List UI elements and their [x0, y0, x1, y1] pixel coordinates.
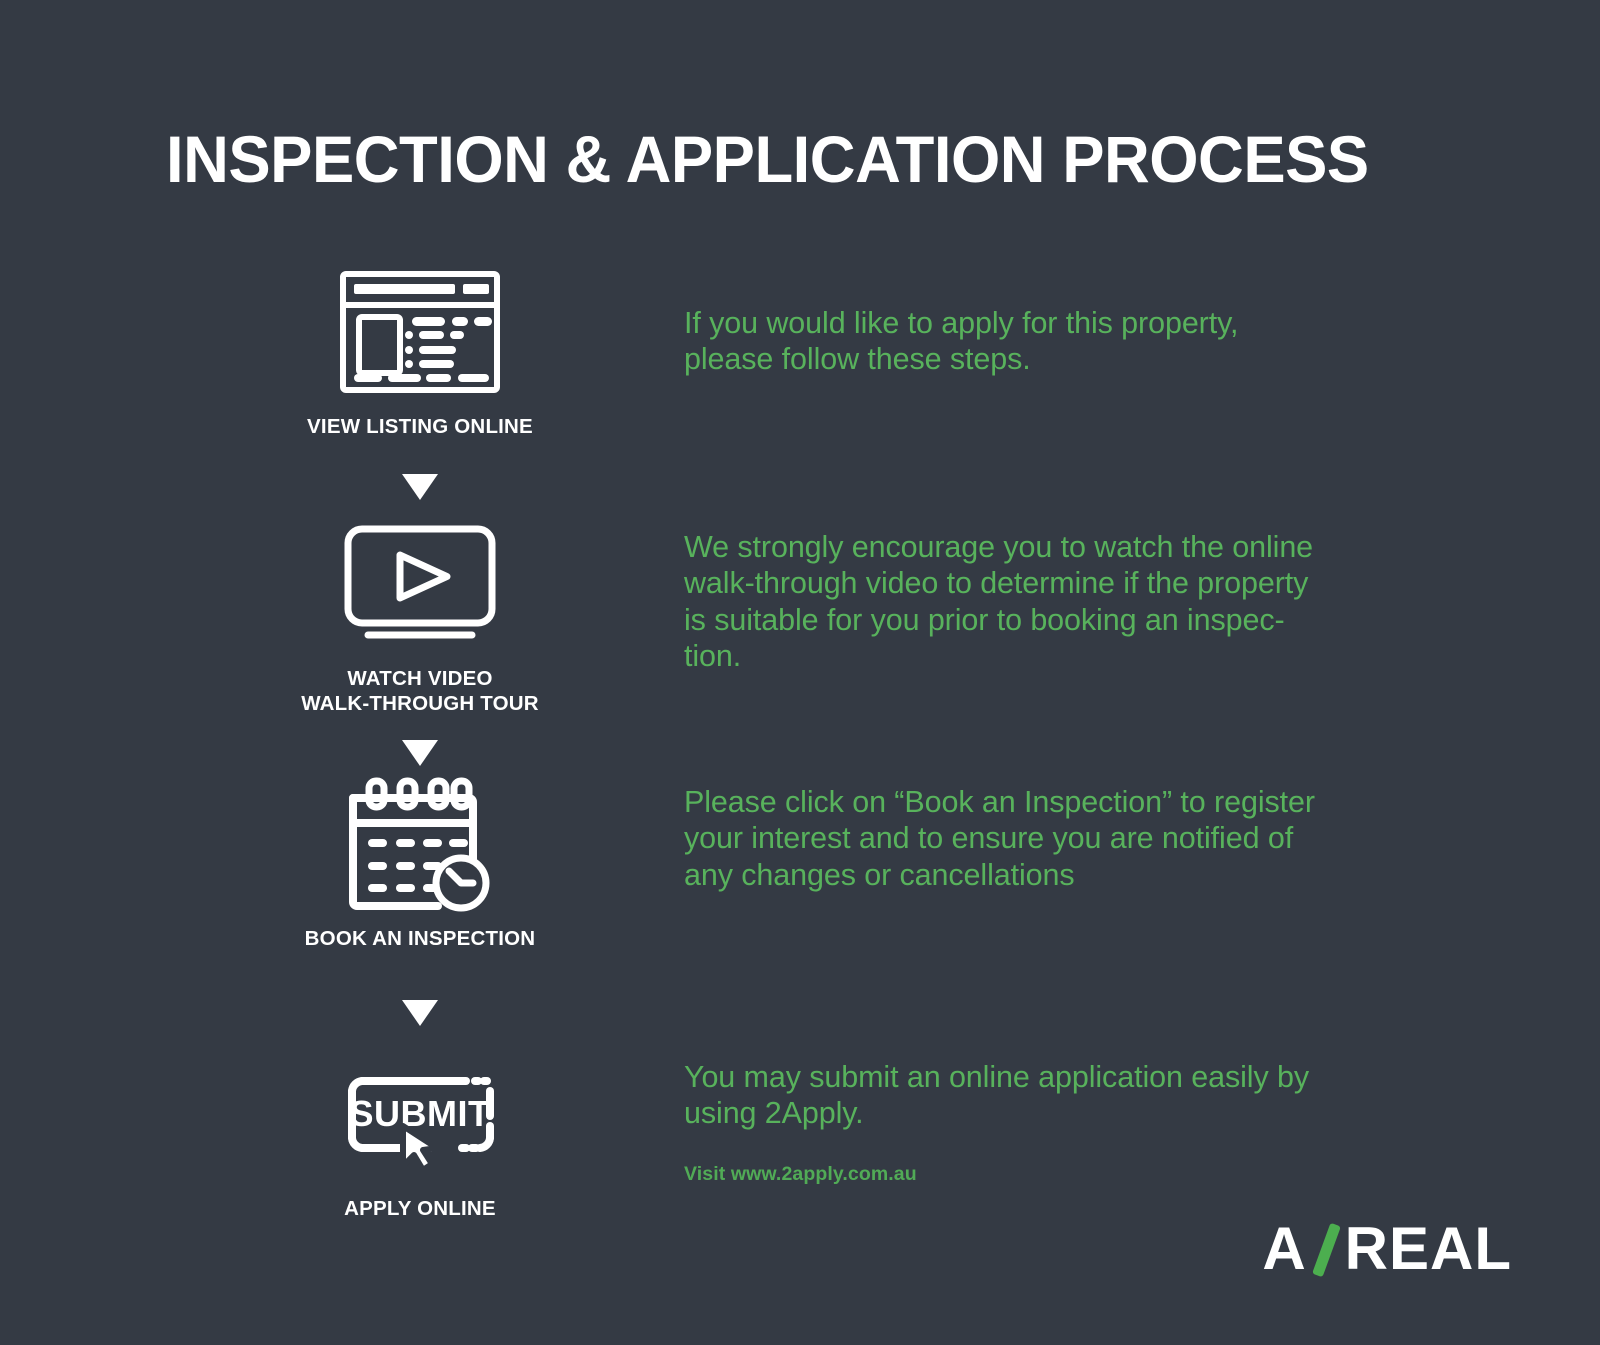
step-book-an-inspection[interactable]: BOOK AN INSPECTION: [240, 774, 600, 951]
step-watch-video-walk-through-tour[interactable]: WATCH VIDEO WALK-THROUGH TOUR: [240, 514, 600, 716]
logo-letter-a: A: [1262, 1219, 1306, 1279]
copy-paragraph-2: We strongly encourage you to watch the o…: [684, 529, 1404, 674]
copy-paragraph-3: Please click on “Book an Inspection” to …: [684, 784, 1404, 893]
triangle-down-icon: [240, 1000, 600, 1026]
step-label: APPLY ONLINE: [240, 1196, 600, 1221]
calendar-clock-icon: [240, 774, 600, 914]
step-apply-online[interactable]: SUBMIT APPLY ONLINE: [240, 1044, 600, 1221]
step-label: WATCH VIDEO WALK-THROUGH TOUR: [240, 666, 600, 716]
copy-paragraph-1: If you would like to apply for this prop…: [684, 305, 1404, 378]
logo-word-real: REAL: [1345, 1219, 1512, 1279]
submit-icon-label: SUBMIT: [350, 1093, 491, 1134]
submit-button-cursor-icon: SUBMIT: [240, 1044, 600, 1184]
copy-paragraph-4: You may submit an online application eas…: [684, 1059, 1404, 1132]
page-title: INSPECTION & APPLICATION PROCESS: [166, 126, 1376, 192]
step-label: BOOK AN INSPECTION: [240, 926, 600, 951]
infographic-canvas: INSPECTION & APPLICATION PROCESS: [0, 0, 1600, 1345]
video-monitor-play-icon: [240, 514, 600, 654]
triangle-down-icon: [240, 474, 600, 500]
step-label: VIEW LISTING ONLINE: [240, 414, 600, 439]
brand-logo: A REAL: [1262, 1219, 1512, 1279]
triangle-down-icon: [240, 740, 600, 766]
browser-listing-icon: [240, 262, 600, 402]
logo-slash-icon: [1309, 1221, 1343, 1277]
step-view-listing-online[interactable]: VIEW LISTING ONLINE: [240, 262, 600, 439]
visit-link[interactable]: Visit www.2apply.com.au: [684, 1163, 917, 1186]
